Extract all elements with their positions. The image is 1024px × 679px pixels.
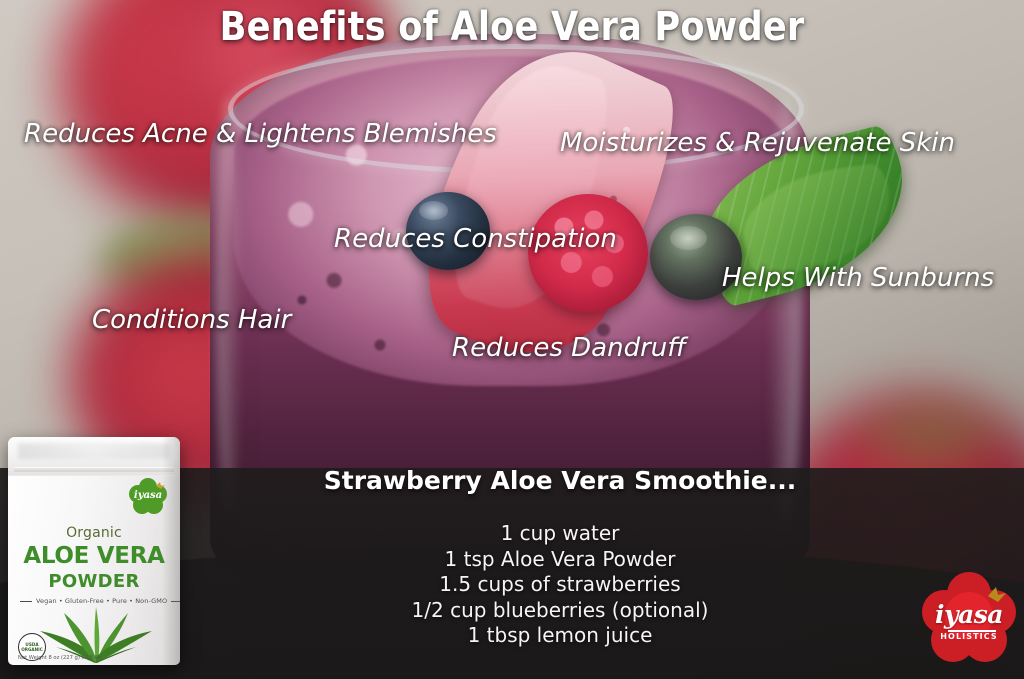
recipe-ingredient: 1.5 cups of strawberries bbox=[280, 572, 840, 598]
brand-logo[interactable]: iyasa HOLISTICS bbox=[922, 570, 1016, 662]
benefit-label-moisturizes-skin: Moisturizes & Rejuvenate Skin bbox=[560, 128, 955, 158]
benefit-label-reduces-acne: Reduces Acne & Lightens Blemishes bbox=[24, 119, 497, 149]
pouch-edge-shading bbox=[162, 437, 180, 665]
recipe-ingredient: 1 tbsp lemon juice bbox=[280, 623, 840, 649]
claims-rule-left bbox=[20, 601, 32, 602]
recipe-ingredient: 1 cup water bbox=[280, 521, 840, 547]
pouch-product-subtitle: POWDER bbox=[8, 571, 180, 592]
pouch-top-texture bbox=[18, 443, 170, 459]
product-pouch: iyasa Organic ALOE VERA POWDER Vegan • G… bbox=[8, 437, 180, 665]
pouch-organic-label: Organic bbox=[8, 525, 180, 541]
svg-text:iyasa: iyasa bbox=[134, 490, 162, 501]
recipe-ingredient: 1/2 cup blueberries (optional) bbox=[280, 598, 840, 624]
benefit-label-reduces-constipation: Reduces Constipation bbox=[334, 224, 617, 254]
page-title: Benefits of Aloe Vera Powder bbox=[61, 4, 962, 50]
brand-logo-name: iyasa bbox=[922, 600, 1016, 629]
brand-logo-tagline: HOLISTICS bbox=[922, 632, 1016, 641]
pouch-zipper bbox=[14, 467, 174, 472]
pouch-claims-text: Vegan • Gluten-Free • Pure • Non-GMO bbox=[36, 597, 167, 605]
pouch-net-weight: Net Weight 8 oz (227 g) 62.5 Rs bbox=[18, 655, 101, 661]
recipe-title: Strawberry Aloe Vera Smoothie... bbox=[280, 466, 840, 495]
pouch-product-name: ALOE VERA bbox=[8, 543, 180, 569]
recipe-ingredient: 1 tsp Aloe Vera Powder bbox=[280, 547, 840, 573]
benefit-label-reduces-dandruff: Reduces Dandruff bbox=[452, 333, 686, 363]
benefit-label-helps-with-sunburns: Helps With Sunburns bbox=[722, 263, 994, 293]
infographic-poster: Benefits of Aloe Vera Powder Reduces Acn… bbox=[0, 0, 1024, 679]
benefit-label-conditions-hair: Conditions Hair bbox=[92, 305, 291, 335]
recipe-ingredient-list: 1 cup water 1 tsp Aloe Vera Powder 1.5 c… bbox=[280, 521, 840, 649]
